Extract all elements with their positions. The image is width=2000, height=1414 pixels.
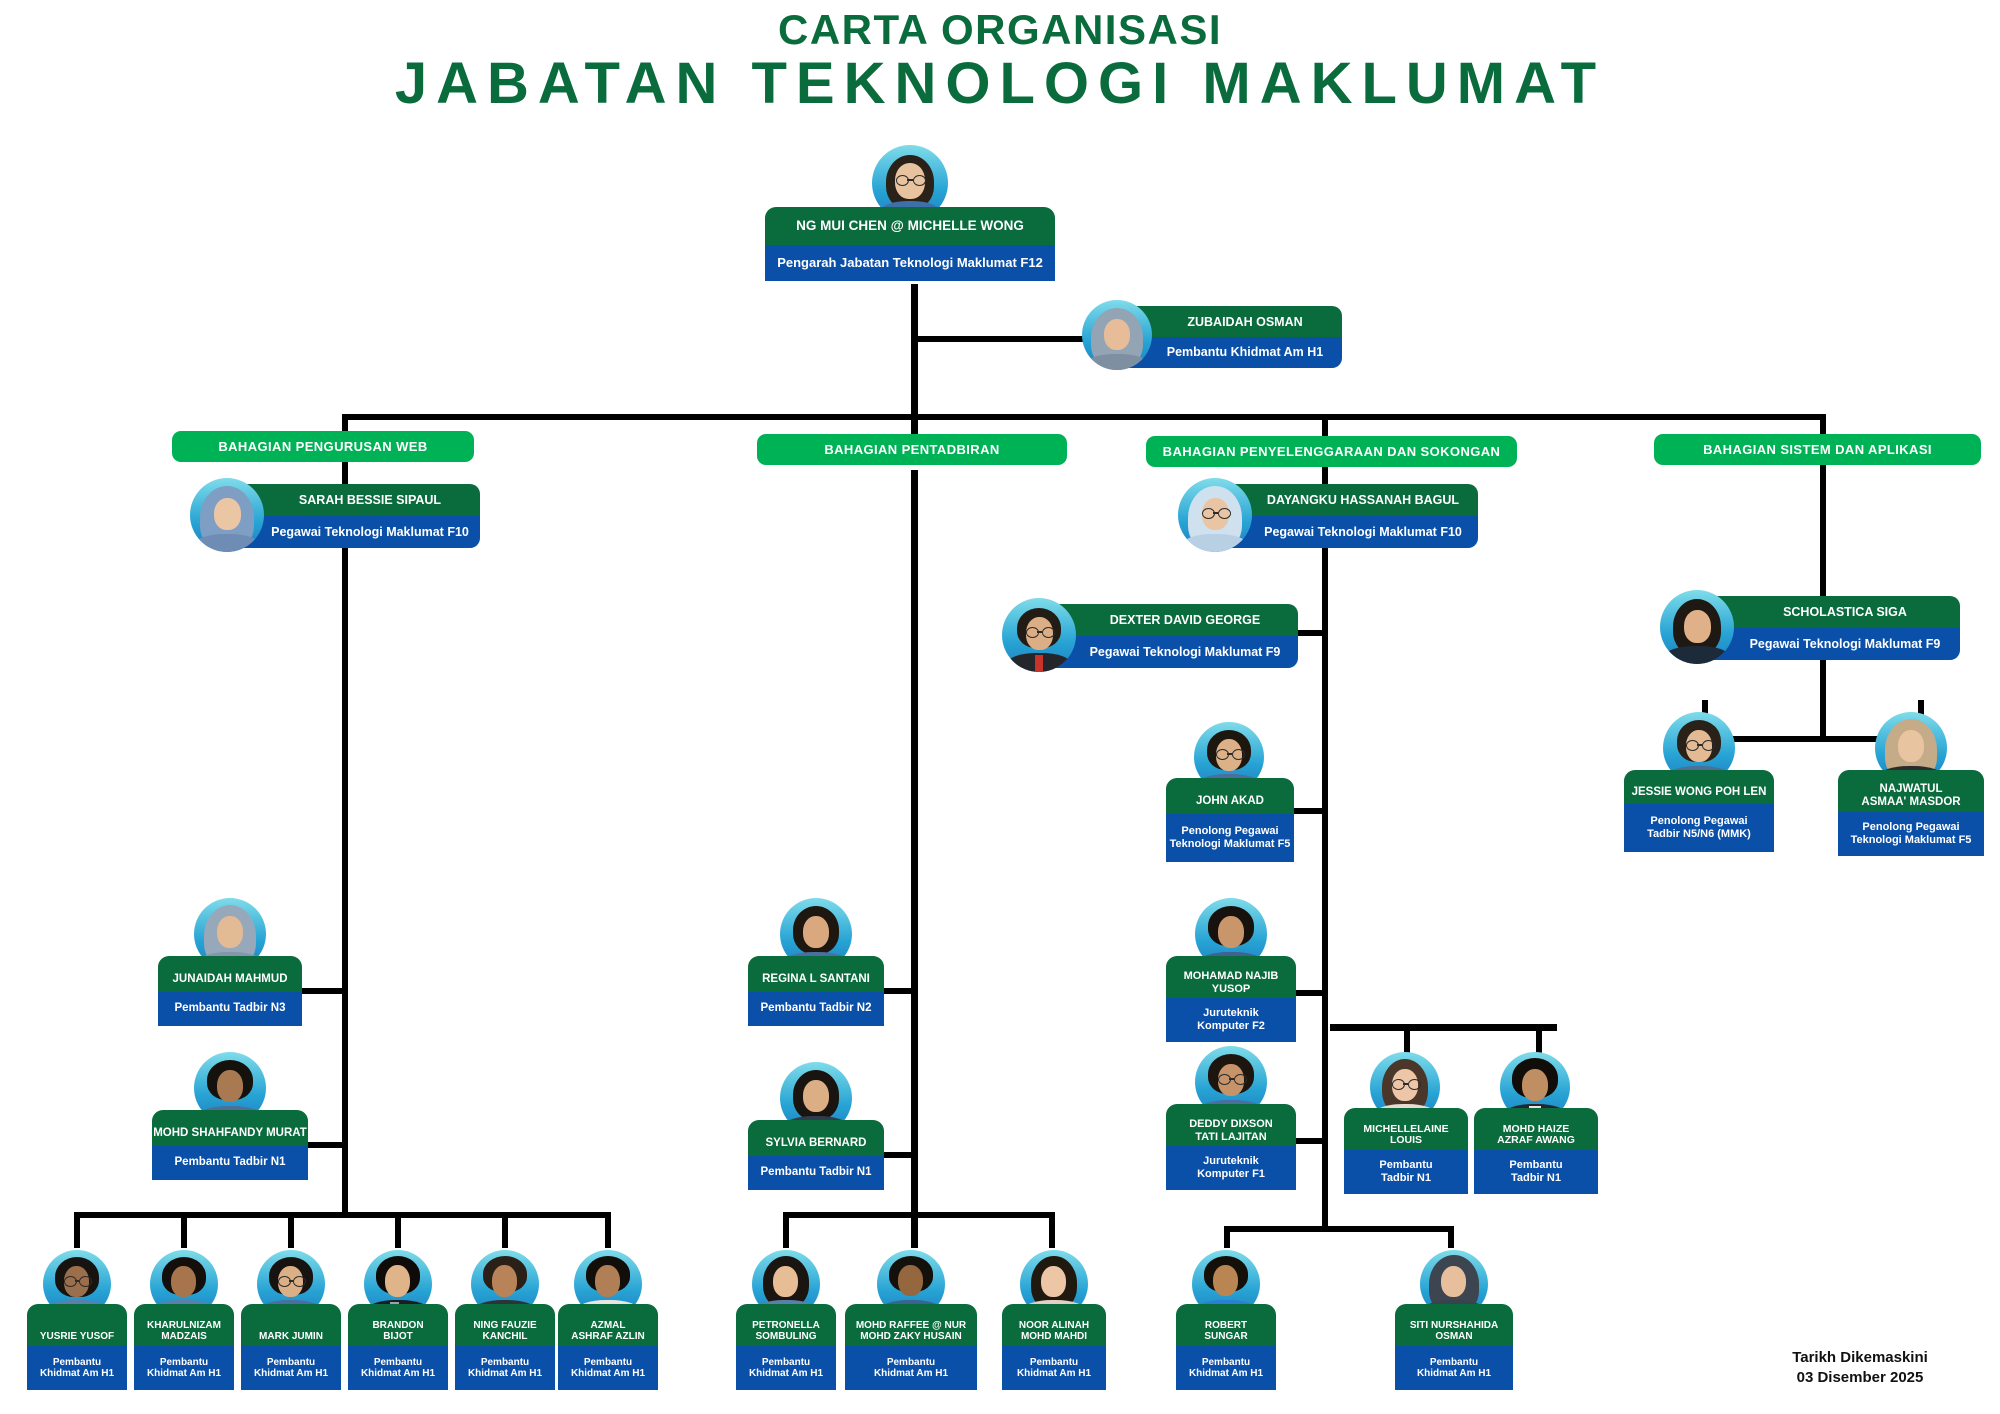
division-label: BAHAGIAN PENGURUSAN WEB — [218, 439, 427, 454]
person-role: Pegawai Teknologi Maklumat F10 — [1264, 525, 1462, 539]
person-card-deddy[interactable]: DEDDY DIXSON TATI LAJITAN Juruteknik Kom… — [1166, 1046, 1296, 1202]
connector-maint-drop-1 — [1224, 1226, 1230, 1248]
person-name-line-2: MOHD MAHDI — [1021, 1331, 1087, 1342]
person-role-band: Pembantu Khidmat Am H1 — [736, 1346, 836, 1390]
person-role-band: Pembantu Khidmat Am H1 — [558, 1346, 658, 1390]
person-role: Pembantu Tadbir N2 — [761, 1002, 872, 1015]
person-name-line-1: DEDDY DIXSON — [1189, 1118, 1273, 1130]
person-role-line-1: Pembantu — [160, 1357, 208, 1368]
person-role-line-1: Penolong Pegawai — [1181, 825, 1278, 838]
person-name-line-2: TATI LAJITAN — [1195, 1131, 1267, 1143]
person-card-bottom-maint-0[interactable]: ROBERT SUNGAR Pembantu Khidmat Am H1 — [1176, 1250, 1276, 1402]
person-name-line-2: MOHD ZAKY HUSAIN — [860, 1331, 961, 1342]
person-name-band: JESSIE WONG POH LEN — [1624, 770, 1774, 804]
person-card-bottom-maint-1[interactable]: SITI NURSHAHIDA OSMAN Pembantu Khidmat A… — [1395, 1250, 1513, 1402]
person-text-column: DAYANGKU HASSANAH BAGUL Pegawai Teknolog… — [1218, 484, 1478, 548]
last-updated-block: Tarikh Dikemaskini 03 Disember 2025 — [1740, 1348, 1980, 1389]
person-role-line-1: Pembantu — [1202, 1357, 1250, 1368]
connector-web-drop-1 — [74, 1212, 80, 1248]
division-label: BAHAGIAN SISTEM DAN APLIKASI — [1703, 442, 1932, 457]
person-name: SARAH BESSIE SIPAUL — [299, 493, 441, 507]
person-role-band: Pembantu Tadbir N3 — [158, 992, 302, 1026]
person-name-line-1: MOHD RAFFEE @ NUR — [856, 1320, 966, 1331]
connector-adm-spine — [911, 470, 918, 1218]
person-text-column: ZUBAIDAH OSMAN Pembantu Khidmat Am H1 — [1120, 306, 1342, 368]
person-role-line-2: Khidmat Am H1 — [1189, 1368, 1263, 1379]
connector-director-trunk — [911, 284, 918, 418]
person-role-line-2: Khidmat Am H1 — [361, 1368, 435, 1379]
person-role: Pembantu Khidmat Am H1 — [1167, 345, 1324, 359]
person-role-band: Pembantu Khidmat Am H1 — [1395, 1346, 1513, 1390]
person-name-band: MOHD HAIZE AZRAF AWANG — [1474, 1108, 1598, 1150]
person-role-line-1: Penolong Pegawai — [1650, 815, 1747, 828]
person-name-line-2: YUSOP — [1212, 983, 1251, 995]
person-role-band: Pembantu Tadbir N1 — [748, 1156, 884, 1190]
person-card-bottom-adm-2[interactable]: NOOR ALINAH MOHD MAHDI Pembantu Khidmat … — [1002, 1250, 1106, 1402]
connector-adm-drop-1 — [783, 1212, 789, 1248]
person-role-band: Pembantu Khidmat Am H1 — [845, 1346, 977, 1390]
person-card-john-akad[interactable]: JOHN AKAD Penolong Pegawai Teknologi Mak… — [1166, 722, 1294, 874]
person-card-bottom-web-3[interactable]: BRANDON BIJOT Pembantu Khidmat Am H1 — [348, 1250, 448, 1402]
division-label: BAHAGIAN PENYELENGGARAAN DAN SOKONGAN — [1163, 444, 1501, 459]
division-bar-sys[interactable]: BAHAGIAN SISTEM DAN APLIKASI — [1654, 434, 1981, 465]
person-name-band: PETRONELLA SOMBULING — [736, 1304, 836, 1346]
person-name-line-2: KANCHIL — [483, 1331, 528, 1342]
person-card-web-head[interactable]: SARAH BESSIE SIPAUL Pegawai Teknologi Ma… — [190, 478, 480, 554]
person-name-line-1: NING FAUZIE — [473, 1320, 536, 1331]
person-card-sylvia[interactable]: SYLVIA BERNARD Pembantu Tadbir N1 — [748, 1062, 884, 1194]
connector-adm-drop-2 — [911, 1212, 918, 1248]
person-name-line-2: BIJOT — [383, 1331, 412, 1342]
avatar — [1002, 598, 1076, 672]
person-text-column: SCHOLASTICA SIGA Pegawai Teknologi Maklu… — [1700, 596, 1960, 660]
person-role-line-2: Tadbir N1 — [1381, 1172, 1431, 1185]
person-role: Pegawai Teknologi Maklumat F9 — [1750, 637, 1941, 651]
person-card-sys-head[interactable]: SCHOLASTICA SIGA Pegawai Teknologi Maklu… — [1660, 590, 1960, 666]
person-name-line-1: ROBERT — [1205, 1320, 1247, 1331]
connector-division-bus — [342, 414, 1826, 420]
person-card-bottom-web-5[interactable]: AZMAL ASHRAF AZLIN Pembantu Khidmat Am H… — [558, 1250, 658, 1402]
connector-adm-bottom-bus — [783, 1212, 1055, 1218]
portrait-image — [190, 478, 264, 552]
connector-maint-dexter — [1297, 630, 1328, 636]
person-role-band: Pembantu Khidmat Am H1 — [1120, 337, 1342, 368]
person-card-bottom-adm-0[interactable]: PETRONELLA SOMBULING Pembantu Khidmat Am… — [736, 1250, 836, 1402]
person-name-line-2: SUNGAR — [1204, 1331, 1247, 1342]
person-role-band: Pembantu Khidmat Am H1 — [1002, 1346, 1106, 1390]
person-role: Pegawai Teknologi Maklumat F10 — [271, 525, 469, 539]
person-name-line-2: LOUIS — [1390, 1135, 1422, 1147]
person-text-column: SARAH BESSIE SIPAUL Pegawai Teknologi Ma… — [230, 484, 480, 548]
connector-web-drop-6 — [605, 1212, 611, 1248]
avatar — [1082, 300, 1152, 370]
person-name-band: KHARULNIZAM MADZAIS — [134, 1304, 234, 1346]
person-role-band: Pembantu Khidmat Am H1 — [241, 1346, 341, 1390]
person-name-line-1: AZMAL — [591, 1320, 626, 1331]
person-name-band: REGINA L SANTANI — [748, 956, 884, 992]
person-role-band: Pegawai Teknologi Maklumat F10 — [230, 516, 480, 548]
person-card-junaidah[interactable]: JUNAIDAH MAHMUD Pembantu Tadbir N3 — [158, 898, 302, 1030]
person-name: JOHN AKAD — [1196, 795, 1264, 808]
person-role-line-2: Khidmat Am H1 — [468, 1368, 542, 1379]
person-card-assistant[interactable]: ZUBAIDAH OSMAN Pembantu Khidmat Am H1 — [1082, 300, 1342, 376]
person-role-band: Pegawai Teknologi Maklumat F10 — [1218, 516, 1478, 548]
person-name-band: SITI NURSHAHIDA OSMAN — [1395, 1304, 1513, 1346]
person-name-band: MARK JUMIN — [241, 1304, 341, 1346]
title-line-2: JABATAN TEKNOLOGI MAKLUMAT — [0, 54, 2000, 115]
person-name-line-1: KHARULNIZAM — [147, 1320, 221, 1331]
person-card-bottom-adm-1[interactable]: MOHD RAFFEE @ NUR MOHD ZAKY HUSAIN Pemba… — [845, 1250, 977, 1402]
person-card-jessie-wong[interactable]: JESSIE WONG POH LEN Penolong Pegawai Tad… — [1624, 712, 1774, 870]
connector-maint-bottom-bus — [1224, 1226, 1454, 1232]
person-role-line-2: Khidmat Am H1 — [1417, 1368, 1491, 1379]
person-role-band: Pegawai Teknologi Maklumat F9 — [1042, 636, 1298, 668]
person-role-band: Pembantu Khidmat Am H1 — [455, 1346, 555, 1390]
connector-web-spine — [342, 440, 348, 1218]
person-name-line-2: SOMBULING — [755, 1331, 816, 1342]
division-label: BAHAGIAN PENTADBIRAN — [824, 442, 999, 457]
avatar — [1178, 478, 1252, 552]
person-name: JESSIE WONG POH LEN — [1632, 786, 1767, 799]
person-name-band: MOHD SHAHFANDY MURAT — [152, 1110, 308, 1146]
person-role: Pegawai Teknologi Maklumat F9 — [1090, 645, 1281, 659]
portrait-image — [1660, 590, 1734, 664]
connector-maint-spine — [1322, 442, 1328, 1232]
person-name-line-1: MARK JUMIN — [259, 1331, 323, 1342]
person-role: Pengarah Jabatan Teknologi Maklumat F12 — [777, 256, 1043, 271]
person-name-line-1: YUSRIE YUSOF — [40, 1331, 114, 1342]
connector-web-drop-4 — [395, 1212, 401, 1248]
person-name-band: DEDDY DIXSON TATI LAJITAN — [1166, 1104, 1296, 1146]
connector-director-assistant — [911, 336, 1089, 342]
person-role-band: Pegawai Teknologi Maklumat F9 — [1700, 628, 1960, 660]
person-role-band: Pembantu Tadbir N1 — [1344, 1150, 1468, 1194]
person-role-line-1: Pembantu — [584, 1357, 632, 1368]
person-name-band: NG MUI CHEN @ MICHELLE WONG — [765, 207, 1055, 245]
person-role-line-1: Pembantu — [762, 1357, 810, 1368]
person-name-band: BRANDON BIJOT — [348, 1304, 448, 1346]
person-text-column: DEXTER DAVID GEORGE Pegawai Teknologi Ma… — [1042, 604, 1298, 668]
person-name-line-2: ASMAA' MASDOR — [1861, 796, 1960, 809]
person-role-line-1: Pembantu — [1509, 1159, 1562, 1172]
portrait-image — [1002, 598, 1076, 672]
person-name-line-2: MADZAIS — [161, 1331, 207, 1342]
avatar — [190, 478, 264, 552]
person-name: ZUBAIDAH OSMAN — [1187, 315, 1302, 329]
person-role-band: Penolong Pegawai Teknologi Maklumat F5 — [1838, 812, 1984, 856]
person-role-band: Pengarah Jabatan Teknologi Maklumat F12 — [765, 245, 1055, 281]
person-role-line-2: Khidmat Am H1 — [571, 1368, 645, 1379]
person-role-line-2: Tadbir N5/N6 (MMK) — [1647, 828, 1751, 841]
person-name-line-1: MOHAMAD NAJIB — [1184, 970, 1279, 982]
person-name-band: MOHAMAD NAJIB YUSOP — [1166, 956, 1296, 998]
person-role-line-2: Khidmat Am H1 — [874, 1368, 948, 1379]
connector-adm-drop-3 — [1049, 1212, 1055, 1248]
person-name-line-1: BRANDON — [372, 1320, 423, 1331]
person-role-line-1: Penolong Pegawai — [1862, 821, 1959, 834]
person-name-line-1: NOOR ALINAH — [1019, 1320, 1089, 1331]
person-role-line-1: Pembantu — [1030, 1357, 1078, 1368]
person-name: DEXTER DAVID GEORGE — [1110, 613, 1260, 627]
person-role-band: Pembantu Tadbir N1 — [1474, 1150, 1598, 1194]
person-name-band: SCHOLASTICA SIGA — [1700, 596, 1960, 628]
person-card-maint-head[interactable]: DAYANGKU HASSANAH BAGUL Pegawai Teknolog… — [1178, 478, 1478, 554]
person-name-line-1: PETRONELLA — [752, 1320, 820, 1331]
person-role-band: Pembantu Tadbir N1 — [152, 1146, 308, 1180]
person-card-bottom-web-2[interactable]: MARK JUMIN Pembantu Khidmat Am H1 — [241, 1250, 341, 1402]
person-role-band: Juruteknik Komputer F1 — [1166, 1146, 1296, 1190]
person-name: DAYANGKU HASSANAH BAGUL — [1267, 493, 1459, 507]
person-name-line-2: OSMAN — [1435, 1331, 1472, 1342]
connector-web-drop-3 — [288, 1212, 294, 1248]
person-role-band: Pembantu Khidmat Am H1 — [348, 1346, 448, 1390]
person-name-band: ZUBAIDAH OSMAN — [1120, 306, 1342, 337]
person-role-line-1: Juruteknik — [1203, 1007, 1259, 1020]
person-card-najwatul[interactable]: NAJWATUL ASMAA' MASDOR Penolong Pegawai … — [1838, 712, 1984, 870]
connector-web-bottom-bus — [74, 1212, 611, 1218]
connector-web-drop-5 — [502, 1212, 508, 1248]
person-role-line-2: Khidmat Am H1 — [749, 1368, 823, 1379]
person-role-line-1: Pembantu — [374, 1357, 422, 1368]
person-card-bottom-web-0[interactable]: YUSRIE YUSOF Pembantu Khidmat Am H1 — [27, 1250, 127, 1402]
division-bar-adm[interactable]: BAHAGIAN PENTADBIRAN — [757, 434, 1067, 465]
person-role-line-1: Pembantu — [53, 1357, 101, 1368]
person-role-line-1: Pembantu — [887, 1357, 935, 1368]
person-name-line-2: ASHRAF AZLIN — [571, 1331, 645, 1342]
person-name: MOHD SHAHFANDY MURAT — [153, 1127, 307, 1140]
person-role: Pembantu Tadbir N1 — [175, 1156, 286, 1169]
person-card-michellelaine[interactable]: MICHELLELAINE LOUIS Pembantu Tadbir N1 — [1344, 1052, 1468, 1204]
person-name-band: NOOR ALINAH MOHD MAHDI — [1002, 1304, 1106, 1346]
person-role-line-1: Pembantu — [1379, 1159, 1432, 1172]
person-name-line-2: AZRAF AWANG — [1497, 1135, 1575, 1147]
person-card-shahfandy[interactable]: MOHD SHAHFANDY MURAT Pembantu Tadbir N1 — [152, 1052, 308, 1184]
division-bar-maint[interactable]: BAHAGIAN PENYELENGGARAAN DAN SOKONGAN — [1146, 436, 1517, 467]
person-card-bottom-web-4[interactable]: NING FAUZIE KANCHIL Pembantu Khidmat Am … — [455, 1250, 555, 1402]
person-role: Pembantu Tadbir N3 — [175, 1002, 286, 1015]
person-name: REGINA L SANTANI — [762, 973, 870, 986]
person-role-line-2: Khidmat Am H1 — [147, 1368, 221, 1379]
person-role-band: Penolong Pegawai Teknologi Maklumat F5 — [1166, 814, 1294, 862]
person-name: SCHOLASTICA SIGA — [1783, 605, 1907, 619]
person-name-band: JOHN AKAD — [1166, 778, 1294, 814]
person-card-regina[interactable]: REGINA L SANTANI Pembantu Tadbir N2 — [748, 898, 884, 1030]
person-role: Pembantu Tadbir N1 — [761, 1166, 872, 1179]
person-role-line-2: Khidmat Am H1 — [40, 1368, 114, 1379]
person-name-line-1: SITI NURSHAHIDA — [1410, 1320, 1498, 1331]
connector-maint-sub-bus — [1330, 1024, 1557, 1031]
person-name-band: JUNAIDAH MAHMUD — [158, 956, 302, 992]
person-role-line-1: Pembantu — [267, 1357, 315, 1368]
person-card-najib[interactable]: MOHAMAD NAJIB YUSOP Juruteknik Komputer … — [1166, 898, 1296, 1054]
portrait-image — [1082, 300, 1152, 370]
person-name-band: AZMAL ASHRAF AZLIN — [558, 1304, 658, 1346]
connector-web-drop-2 — [181, 1212, 187, 1248]
person-role-line-2: Teknologi Maklumat F5 — [1851, 834, 1972, 847]
person-role-band: Pembantu Khidmat Am H1 — [27, 1346, 127, 1390]
last-updated-date: 03 Disember 2025 — [1740, 1368, 1980, 1388]
person-role-line-1: Juruteknik — [1203, 1155, 1259, 1168]
person-name-band: NING FAUZIE KANCHIL — [455, 1304, 555, 1346]
person-card-haize[interactable]: MOHD HAIZE AZRAF AWANG Pembantu Tadbir N… — [1474, 1052, 1598, 1204]
person-name-band: DEXTER DAVID GEORGE — [1042, 604, 1298, 636]
person-card-director[interactable]: NG MUI CHEN @ MICHELLE WONG Pengarah Jab… — [765, 145, 1055, 285]
person-role-line-2: Teknologi Maklumat F5 — [1170, 838, 1291, 851]
person-name-band: NAJWATUL ASMAA' MASDOR — [1838, 770, 1984, 812]
person-role-band: Pembantu Khidmat Am H1 — [134, 1346, 234, 1390]
division-bar-web[interactable]: BAHAGIAN PENGURUSAN WEB — [172, 431, 474, 462]
person-role-band: Pembantu Khidmat Am H1 — [1176, 1346, 1276, 1390]
person-name-band: MOHD RAFFEE @ NUR MOHD ZAKY HUSAIN — [845, 1304, 977, 1346]
person-name-line-1: NAJWATUL — [1879, 783, 1942, 796]
portrait-image — [1178, 478, 1252, 552]
person-role-line-2: Komputer F2 — [1197, 1020, 1265, 1033]
person-name: JUNAIDAH MAHMUD — [173, 973, 288, 986]
person-role-line-2: Tadbir N1 — [1511, 1172, 1561, 1185]
person-role-band: Juruteknik Komputer F2 — [1166, 998, 1296, 1042]
chart-title: CARTA ORGANISASI JABATAN TEKNOLOGI MAKLU… — [0, 8, 2000, 115]
person-role-line-2: Khidmat Am H1 — [254, 1368, 328, 1379]
person-name: SYLVIA BERNARD — [766, 1137, 867, 1150]
person-name-band: ROBERT SUNGAR — [1176, 1304, 1276, 1346]
person-card-bottom-web-1[interactable]: KHARULNIZAM MADZAIS Pembantu Khidmat Am … — [134, 1250, 234, 1402]
person-role-line-1: Pembantu — [1430, 1357, 1478, 1368]
person-role-line-2: Khidmat Am H1 — [1017, 1368, 1091, 1379]
person-role-line-1: Pembantu — [481, 1357, 529, 1368]
person-name-band: YUSRIE YUSOF — [27, 1304, 127, 1346]
person-name-band: SARAH BESSIE SIPAUL — [230, 484, 480, 516]
person-role-band: Pembantu Tadbir N2 — [748, 992, 884, 1026]
person-role-line-2: Komputer F1 — [1197, 1168, 1265, 1181]
last-updated-label: Tarikh Dikemaskini — [1740, 1348, 1980, 1368]
avatar — [1660, 590, 1734, 664]
person-name-band: SYLVIA BERNARD — [748, 1120, 884, 1156]
title-line-1: CARTA ORGANISASI — [0, 8, 2000, 52]
person-name-band: DAYANGKU HASSANAH BAGUL — [1218, 484, 1478, 516]
person-role-band: Penolong Pegawai Tadbir N5/N6 (MMK) — [1624, 804, 1774, 852]
person-name: NG MUI CHEN @ MICHELLE WONG — [796, 218, 1024, 233]
person-name-band: MICHELLELAINE LOUIS — [1344, 1108, 1468, 1150]
connector-maint-drop-2 — [1448, 1226, 1454, 1248]
person-card-maint-officer[interactable]: DEXTER DAVID GEORGE Pegawai Teknologi Ma… — [1002, 598, 1298, 674]
